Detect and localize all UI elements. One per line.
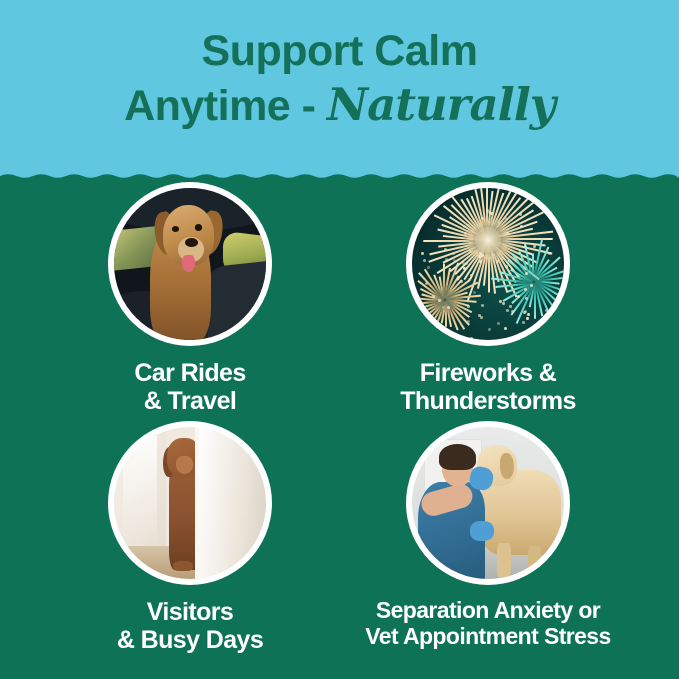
caption-line-2: Vet Appointment Stress — [318, 624, 658, 650]
photo-fireworks-icon — [412, 188, 564, 340]
headline-line-2-script: Naturally — [327, 78, 555, 131]
infographic-canvas: Support Calm Anytime - Naturally — [0, 0, 679, 679]
caption-line-1: Fireworks & — [318, 359, 658, 387]
headline-block: Support Calm Anytime - Naturally — [0, 0, 679, 160]
benefit-card-car-rides[interactable]: Car Rides & Travel — [20, 182, 360, 415]
header-band: Support Calm Anytime - Naturally — [0, 0, 679, 178]
caption-car-rides: Car Rides & Travel — [20, 359, 360, 415]
caption-line-1: Car Rides — [20, 359, 360, 387]
photo-ring-vet-stress — [406, 421, 570, 585]
photo-ring-fireworks — [406, 182, 570, 346]
photo-vet-with-dog-icon — [412, 427, 564, 579]
headline-line-2: Anytime - Naturally — [124, 80, 555, 130]
benefit-card-vet-stress[interactable]: Separation Anxiety or Vet Appointment St… — [318, 421, 658, 650]
benefit-card-grid: Car Rides & Travel Fireworks & Thunderst… — [0, 178, 679, 679]
caption-visitors: Visitors & Busy Days — [20, 598, 360, 654]
caption-line-2: & Busy Days — [20, 626, 360, 654]
photo-ring-car-rides — [108, 182, 272, 346]
caption-line-1: Visitors — [20, 598, 360, 626]
photo-ring-visitors — [108, 421, 272, 585]
caption-line-2: & Travel — [20, 387, 360, 415]
benefit-card-fireworks[interactable]: Fireworks & Thunderstorms — [318, 182, 658, 415]
photo-dog-in-car-icon — [114, 188, 266, 340]
caption-line-1: Separation Anxiety or — [318, 598, 658, 624]
caption-line-2: Thunderstorms — [318, 387, 658, 415]
benefit-card-visitors[interactable]: Visitors & Busy Days — [20, 421, 360, 654]
headline-line-1: Support Calm — [202, 30, 478, 74]
headline-line-2-plain: Anytime - — [124, 82, 327, 130]
photo-dog-at-doorway-icon — [114, 427, 266, 579]
caption-vet-stress: Separation Anxiety or Vet Appointment St… — [318, 598, 658, 650]
caption-fireworks: Fireworks & Thunderstorms — [318, 359, 658, 415]
